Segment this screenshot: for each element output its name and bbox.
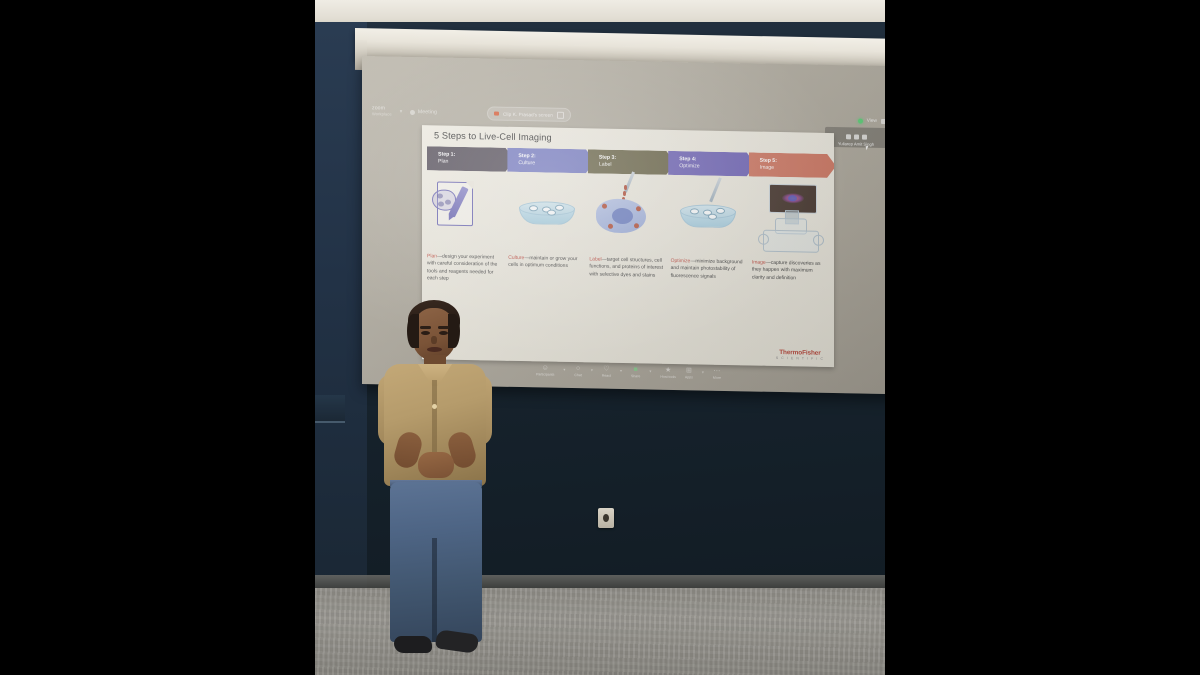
slide-text-columns: Plan—design your experiment with careful… [427, 253, 829, 290]
screenshot-frame: zoom Workplace ▾ Meeting Clip K. Prasad'… [0, 0, 1200, 675]
chat-caret-icon[interactable]: ▾ [591, 367, 593, 372]
step-4-name: Optimize [679, 163, 755, 171]
column-optimize-lead: Optimize [671, 258, 691, 264]
zoom-workplace-brand: zoom Workplace [372, 106, 392, 116]
monitor-icon [769, 184, 817, 214]
mouth [427, 347, 442, 352]
toolbar-share-label: Share [631, 374, 640, 378]
illustration-culture [507, 175, 587, 255]
column-culture: Culture—maintain or grow your cells in o… [508, 255, 585, 285]
step-2-name: Culture [518, 160, 594, 168]
apps-icon: ⊞ [686, 367, 692, 374]
toolbar-share[interactable]: ■ Share [631, 366, 640, 379]
step-chevron-5: Step 5: Image [749, 152, 834, 178]
side-wall [315, 22, 367, 600]
column-plan: Plan—design your experiment with careful… [427, 253, 504, 283]
toolbar-chat[interactable]: ○ Chat [574, 365, 581, 378]
screen-share-banner[interactable]: Clip K. Prasad's screen [487, 106, 571, 122]
shirt-button [432, 404, 437, 409]
optimize-pipette-icon [709, 177, 722, 202]
illustration-image [749, 179, 829, 259]
toolbar-apps[interactable]: ⊞ Apps [685, 367, 693, 380]
more-icon: ⋯ [713, 367, 720, 374]
meeting-status-label: Meeting [418, 109, 437, 115]
hair-right [448, 314, 460, 348]
fluorescent-cells-preview [782, 193, 804, 203]
column-optimize: Optimize—minimize background and maintai… [671, 258, 748, 288]
step-5-name: Image [760, 165, 834, 173]
participants-caret-icon[interactable]: ▾ [563, 366, 565, 371]
brand-bottom: Workplace [372, 112, 392, 117]
slide-illustrations [427, 173, 829, 259]
nose [431, 336, 437, 344]
eye-right [439, 331, 448, 335]
eyebrow-right [438, 326, 449, 329]
illustration-optimize [668, 178, 748, 258]
react-caret-icon[interactable]: ▾ [620, 367, 622, 372]
tile-mute-icon[interactable] [846, 134, 851, 139]
view-label[interactable]: View [867, 118, 877, 123]
column-plan-lead: Plan [427, 253, 437, 259]
toolbar-more[interactable]: ⋯ More [713, 367, 721, 380]
meeting-status[interactable]: Meeting [410, 109, 437, 116]
step-chevron-2: Step 2: Culture [507, 148, 594, 174]
step-chevron-1: Step 1: Plan [427, 146, 514, 172]
speaker-video-tile[interactable]: Yuliarep Amit Singh [825, 127, 885, 148]
toolbar-react[interactable]: ♡ React [602, 365, 611, 378]
eyebrow-left [420, 326, 431, 329]
share-banner-label: Clip K. Prasad's screen [503, 111, 553, 117]
mouse-cursor [866, 145, 872, 150]
column-label-lead: Label [589, 256, 601, 262]
thermofisher-logo: ThermoFisher S C I E N T I F I C [776, 348, 824, 360]
step-3-name: Label [599, 162, 675, 170]
toolbar-participants[interactable]: ☺ Participants [536, 364, 554, 377]
react-icon: ♡ [603, 365, 609, 372]
stop-share-icon [494, 112, 499, 116]
apps-caret-icon[interactable]: ▾ [702, 369, 704, 374]
toolbar-host-tools-label: Host tools [660, 375, 676, 379]
hair-left [407, 314, 419, 348]
hands [418, 452, 454, 478]
column-culture-lead: Culture [508, 255, 524, 261]
step-chevron-4: Step 4: Optimize [668, 151, 755, 177]
participants-icon: ☺ [542, 364, 549, 371]
tile-video-icon[interactable] [854, 134, 859, 139]
chat-icon: ○ [576, 365, 580, 372]
expand-icon[interactable] [557, 111, 564, 118]
wall-fixture [315, 395, 345, 423]
host-tools-icon: ★ [665, 367, 671, 374]
column-image-lead: Image [752, 259, 766, 265]
microscope-icon [761, 184, 819, 257]
shoe-left [394, 636, 432, 653]
toolbar-apps-label: Apps [685, 375, 693, 379]
slide-title: 5 Steps to Live-Cell Imaging [434, 130, 552, 142]
share-caret-icon[interactable]: ▾ [649, 368, 651, 373]
meeting-icon [410, 109, 415, 114]
column-plan-body: —design your experiment with careful con… [427, 253, 497, 281]
illustration-label [588, 176, 668, 256]
chevron-down-icon[interactable]: ▾ [400, 109, 403, 115]
column-image: Image—capture discoveries as they happen… [752, 259, 829, 289]
view-layout-icon[interactable] [881, 118, 885, 123]
toolbar-host-tools[interactable]: ★ Host tools [660, 366, 676, 379]
toolbar-more-label: More [713, 376, 721, 380]
share-screen-icon: ■ [634, 366, 638, 373]
tile-controls [846, 134, 867, 139]
logo-line-2: S C I E N T I F I C [776, 356, 824, 361]
eye-left [421, 331, 430, 335]
tile-more-icon[interactable] [862, 135, 867, 140]
optimize-petri-dish-icon [680, 204, 734, 227]
step-chevron-bar: Step 1: Plan Step 2: Culture Step 3: Lab… [427, 146, 829, 178]
conference-room-photo: zoom Workplace ▾ Meeting Clip K. Prasad'… [315, 0, 885, 675]
toolbar-participants-label: Participants [536, 373, 554, 377]
toolbar-chat-label: Chat [574, 373, 581, 377]
step-1-name: Plan [438, 158, 514, 166]
petri-dish-icon [519, 201, 573, 224]
presenter [370, 300, 500, 675]
stained-cell-icon [596, 198, 646, 233]
toolbar-react-label: React [602, 374, 611, 378]
illustration-plan [427, 173, 507, 253]
column-label: Label—target cell structures, cell funct… [589, 256, 666, 286]
jeans-seam [432, 538, 437, 642]
recording-indicator-icon [858, 118, 863, 123]
wall-outlet [598, 508, 614, 528]
